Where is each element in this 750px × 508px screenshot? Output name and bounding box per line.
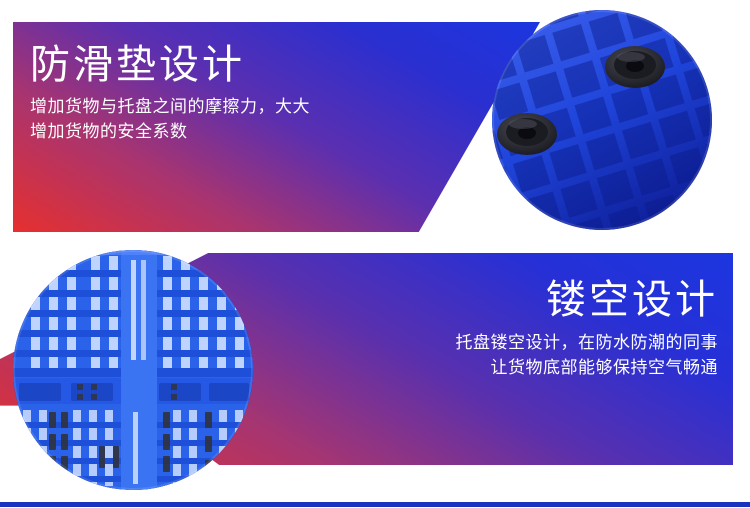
anti-slip-pad-upper: [605, 46, 665, 88]
pallet-antislip-pad-photo: [492, 10, 712, 230]
feature-title-anti-slip-pad: 防滑垫设计: [30, 42, 310, 88]
feature-subtitle-hollow-design: 托盘镂空设计，在防水防潮的同事 让货物底部能够保持空气畅通: [456, 330, 719, 380]
feature-text-anti-slip-pad: 防滑垫设计 增加货物与托盘之间的摩擦力，大大 增加货物的安全系数: [30, 42, 310, 144]
footer-divider-rule: [0, 502, 750, 507]
feature-banner-page: 防滑垫设计 增加货物与托盘之间的摩擦力，大大 增加货物的安全系数: [0, 0, 750, 508]
pallet-hollow-structure-photo: [13, 250, 253, 490]
anti-slip-pad-lower: [497, 113, 557, 155]
feature-subtitle-anti-slip-pad: 增加货物与托盘之间的摩擦力，大大 增加货物的安全系数: [30, 94, 310, 144]
feature-text-hollow-design: 镂空设计 托盘镂空设计，在防水防潮的同事 让货物底部能够保持空气畅通: [456, 277, 719, 380]
feature-title-hollow-design: 镂空设计: [456, 277, 719, 323]
